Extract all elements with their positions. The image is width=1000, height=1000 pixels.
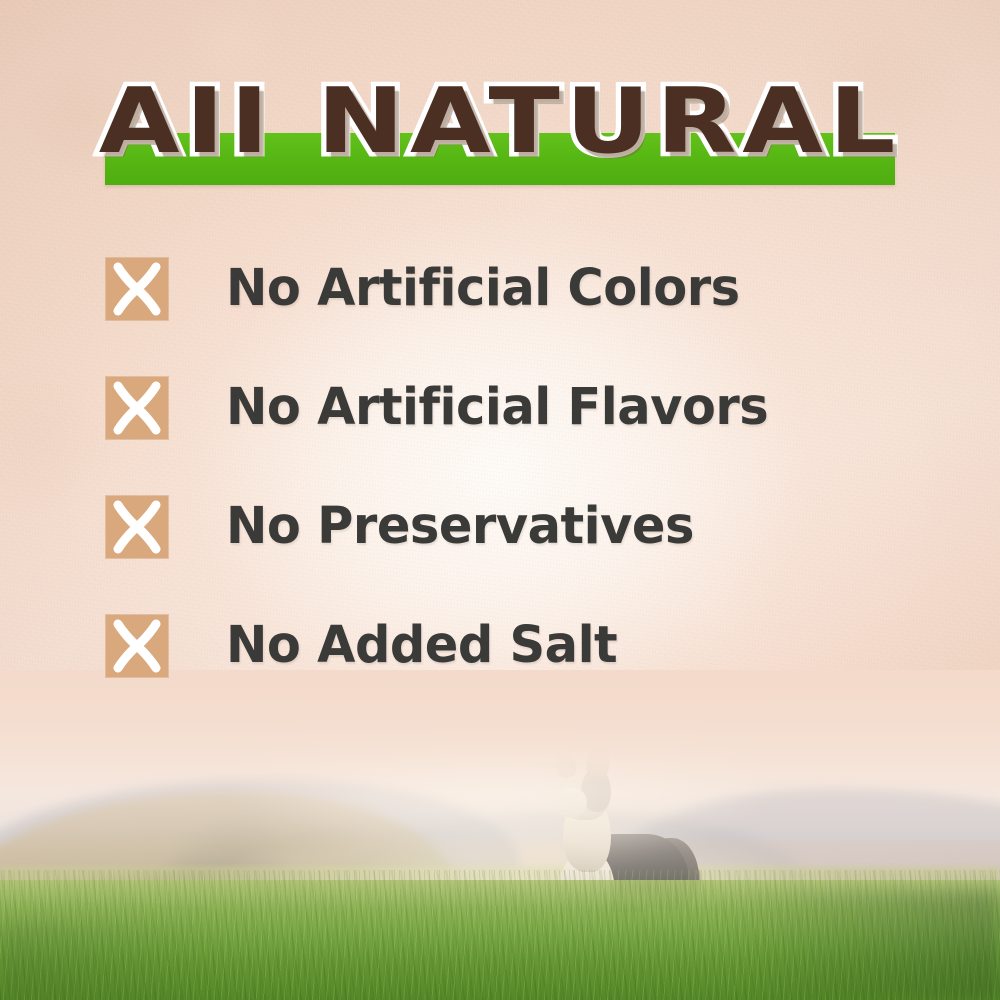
page-title: AII NATURAL [0,70,1000,174]
list-item: No Artificial Flavors [106,377,926,439]
list-item-label: No Added Salt [226,615,617,677]
list-item-label: No Preservatives [226,496,694,558]
x-mark-icon [106,615,168,677]
x-mark-icon [106,496,168,558]
x-mark-icon [106,377,168,439]
list-item: No Added Salt [106,615,926,677]
headline-block: AII NATURAL [0,70,1000,195]
list-item-label: No Artificial Colors [226,258,740,320]
all-natural-product-poster: AII NATURAL No Artificial Colors No Arti… [0,0,1000,1000]
x-mark-icon [106,258,168,320]
list-item: No Artificial Colors [106,258,926,320]
benefits-list: No Artificial Colors No Artificial Flavo… [106,258,926,734]
list-item-label: No Artificial Flavors [226,377,768,439]
list-item: No Preservatives [106,496,926,558]
